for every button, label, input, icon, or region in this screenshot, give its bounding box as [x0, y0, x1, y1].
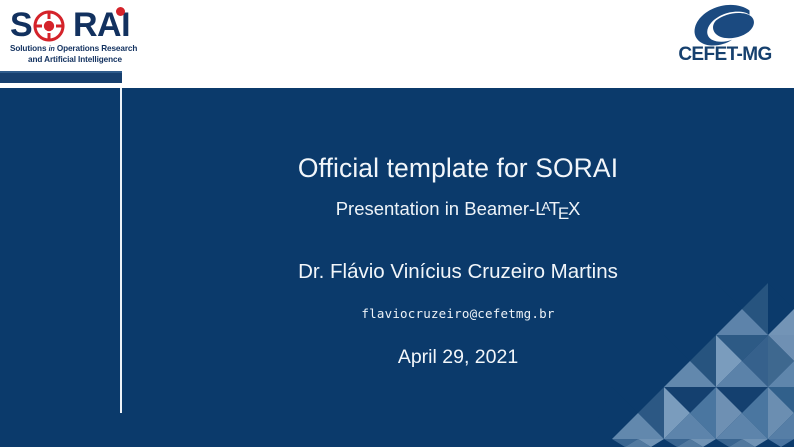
latex-e: E — [558, 204, 569, 223]
sorai-logo: S RAI Solutions in Operations Research a… — [6, 4, 130, 68]
header-accent-bar — [0, 71, 122, 83]
author-email[interactable]: flaviocruzeiro@cefetmg.br — [122, 306, 794, 321]
presentation-title-slide: S RAI Solutions in Operations Research a… — [0, 0, 794, 447]
sorai-tagline-line-2: and Artificial Intelligence — [28, 55, 122, 64]
latex-a: A — [542, 199, 551, 214]
title-content-block: Official template for SORAI Presentation… — [122, 88, 794, 447]
cefet-swoosh-icon — [686, 4, 764, 46]
cefet-mg-logo: CEFET-MG — [670, 4, 780, 70]
red-dot-icon — [116, 7, 125, 16]
crosshair-target-icon — [33, 10, 65, 42]
latex-logo: LATEX — [535, 198, 580, 219]
latex-x: X — [568, 198, 580, 219]
slide-body: Official template for SORAI Presentation… — [0, 88, 794, 447]
sorai-tagline-line-1: Solutions in Operations Research — [10, 44, 137, 53]
subtitle-prefix: Presentation in Beamer- — [336, 198, 536, 219]
tagline-word-in: in — [49, 46, 55, 53]
tagline-word-solutions: Solutions — [10, 44, 46, 53]
page-title: Official template for SORAI — [122, 153, 794, 184]
sorai-wordmark: S RAI — [10, 6, 128, 44]
page-subtitle: Presentation in Beamer-LATEX — [122, 198, 794, 220]
cefet-mg-wordmark: CEFET-MG — [670, 44, 780, 66]
presentation-date: April 29, 2021 — [122, 346, 794, 369]
sorai-letter-s: S — [10, 6, 32, 44]
tagline-words-operations-research: Operations Research — [57, 44, 137, 53]
author-name: Dr. Flávio Vinícius Cruzeiro Martins — [122, 260, 794, 284]
